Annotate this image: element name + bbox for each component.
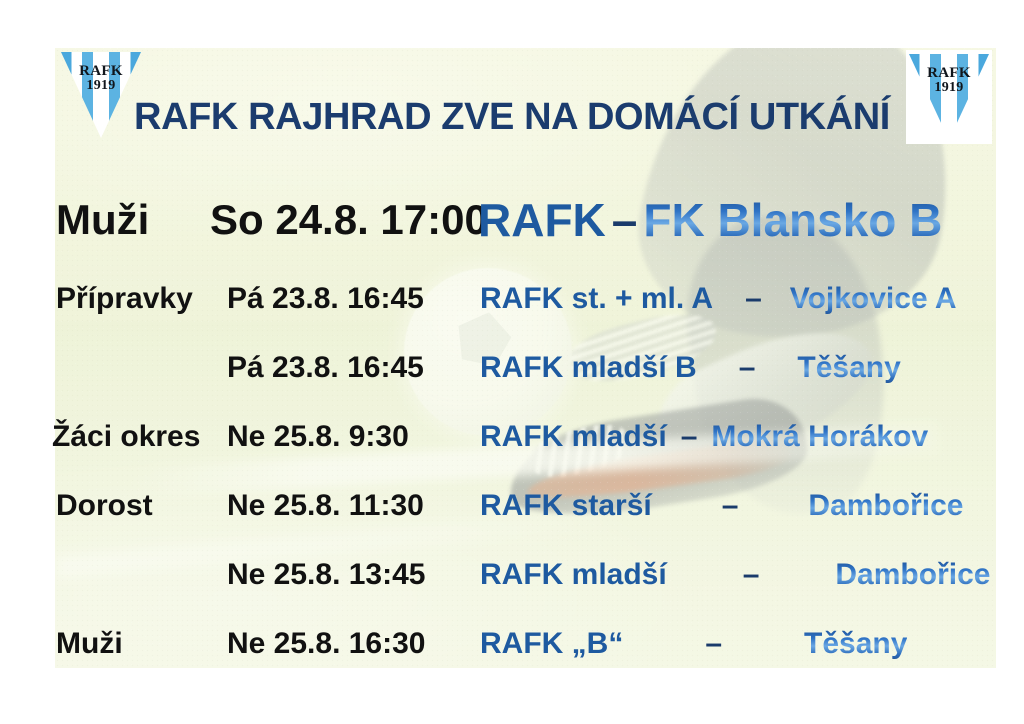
versus-separator: – [716,489,745,523]
crest-founded-year: 1919 [906,81,992,95]
home-team: RAFK „B“ [480,627,623,661]
match-category: Muži [56,627,123,661]
match-category: Dorost [56,489,153,523]
match-datetime: Pá 23.8. 16:45 [227,282,424,316]
match-fixture: RAFK mladší B – Těšany [480,351,996,385]
away-team: FK Blansko B [643,193,942,247]
match-row: Pá 23.8. 16:45 RAFK mladší B – Těšany [0,333,1024,402]
match-fixture: RAFK mladší – Mokrá Horákov [480,420,996,454]
match-fixture: RAFK st. + ml. A – Vojkovice A [480,282,996,316]
match-row: Žáci okres Ne 25.8. 9:30 RAFK mladší – M… [0,402,1024,471]
crest-club-name: RAFK [906,66,992,81]
match-category: Přípravky [56,282,193,316]
match-row-featured: Muži So 24.8. 17:00 RAFK – FK Blansko B [0,176,1024,264]
away-team: Těšany [804,627,907,661]
match-category: Žáci okres [52,420,200,454]
versus-separator: – [675,420,704,454]
home-team: RAFK mladší [480,420,667,454]
match-row: Přípravky Pá 23.8. 16:45 RAFK st. + ml. … [0,264,1024,333]
home-team: RAFK [478,193,606,247]
match-schedule-list: Muži So 24.8. 17:00 RAFK – FK Blansko B … [0,176,1024,678]
page-title: RAFK RAJHRAD ZVE NA DOMÁCÍ UTKÁNÍ [0,96,1024,139]
match-fixture: RAFK mladší – Dambořice [480,558,996,592]
match-row: Ne 25.8. 13:45 RAFK mladší – Dambořice [0,540,1024,609]
match-row: Dorost Ne 25.8. 11:30 RAFK starší – Damb… [0,471,1024,540]
crest-club-name: RAFK [58,64,144,79]
versus-separator: – [699,627,728,661]
match-datetime: So 24.8. 17:00 [210,196,488,244]
away-team: Mokrá Horákov [711,420,928,454]
match-datetime: Ne 25.8. 13:45 [227,558,425,592]
home-team: RAFK starší [480,489,652,523]
match-datetime: Pá 23.8. 16:45 [227,351,424,385]
versus-separator: – [739,282,768,316]
club-crest-left-text: RAFK 1919 [58,64,144,94]
match-fixture: RAFK – FK Blansko B [478,193,994,247]
home-team: RAFK mladší [480,558,667,592]
match-fixture: RAFK starší – Dambořice [480,489,996,523]
away-team: Těšany [797,351,900,385]
home-team: RAFK mladší B [480,351,697,385]
club-crest-right-text: RAFK 1919 [906,66,992,96]
match-datetime: Ne 25.8. 9:30 [227,420,409,454]
crest-founded-year: 1919 [58,79,144,93]
away-team: Dambořice [808,489,963,523]
match-category: Muži [56,196,149,244]
poster-canvas: RAFK 1919 RAFK 1919 RAFK RAJHRAD ZVE NA … [0,0,1024,724]
match-row: Muži Ne 25.8. 16:30 RAFK „B“ – Těšany [0,609,1024,678]
versus-separator: – [606,193,644,247]
away-team: Vojkovice A [790,282,957,316]
versus-separator: – [737,558,766,592]
match-fixture: RAFK „B“ – Těšany [480,627,996,661]
match-datetime: Ne 25.8. 11:30 [227,489,424,523]
away-team: Dambořice [835,558,990,592]
versus-separator: – [733,351,762,385]
match-datetime: Ne 25.8. 16:30 [227,627,425,661]
home-team: RAFK st. + ml. A [480,282,713,316]
